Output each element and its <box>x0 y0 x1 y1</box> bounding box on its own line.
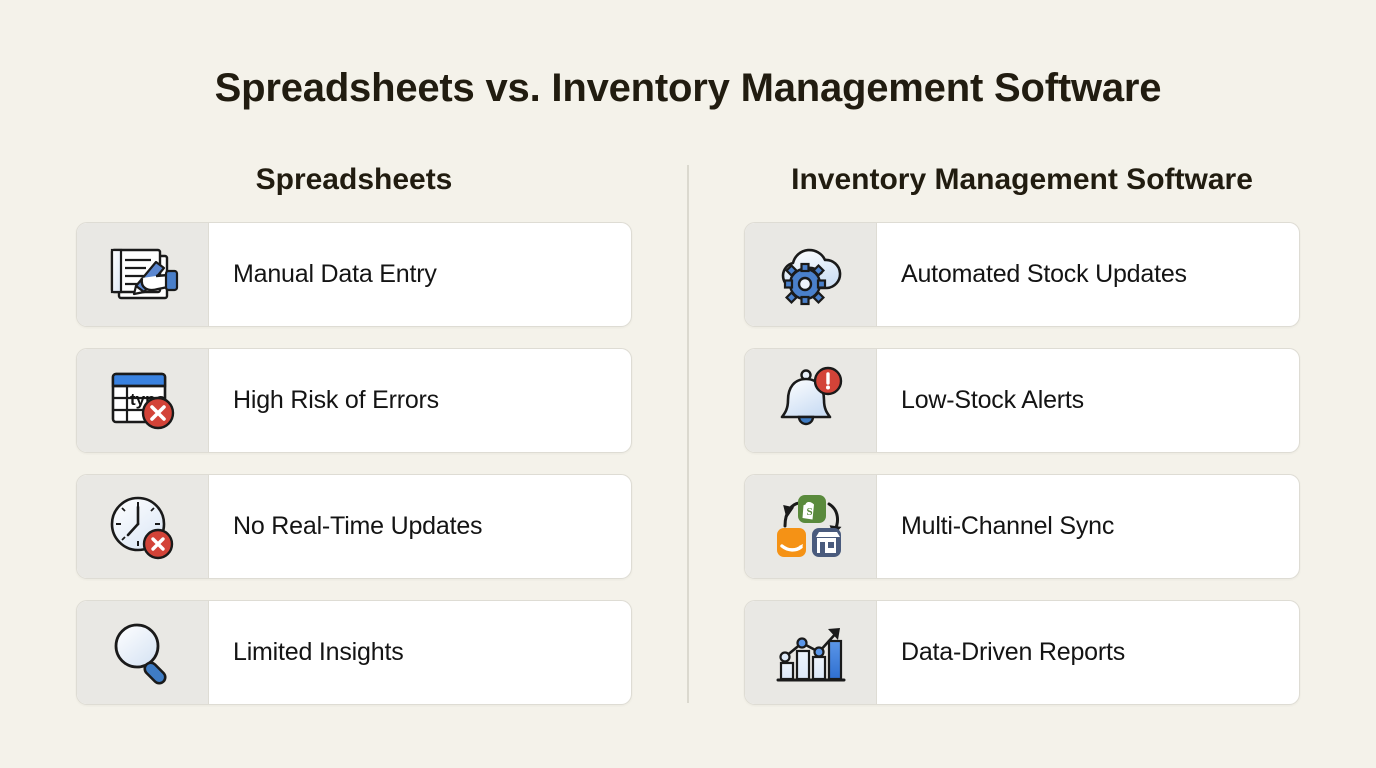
page-title: Spreadsheets vs. Inventory Management So… <box>0 66 1376 111</box>
column-inventory-software: Inventory Management Software <box>744 160 1300 726</box>
list-item-label: Manual Data Entry <box>209 223 631 326</box>
list-item[interactable]: Manual Data Entry <box>76 222 632 327</box>
list-item-label: Low-Stock Alerts <box>877 349 1299 452</box>
handwriting-pen-icon <box>77 223 209 326</box>
list-item[interactable]: typo High Risk of Errors <box>76 348 632 453</box>
magnifying-glass-icon <box>77 601 209 704</box>
list-item[interactable]: Data-Driven Reports <box>744 600 1300 705</box>
bell-alert-icon <box>745 349 877 452</box>
list-item-label: Limited Insights <box>209 601 631 704</box>
multi-channel-sync-icon: S <box>745 475 877 578</box>
list-item[interactable]: Automated Stock Updates <box>744 222 1300 327</box>
bar-chart-trend-icon <box>745 601 877 704</box>
amazon-tile <box>777 528 806 557</box>
column-heading-spreadsheets: Spreadsheets <box>76 160 632 204</box>
list-item-label: High Risk of Errors <box>209 349 631 452</box>
infographic-canvas: Spreadsheets vs. Inventory Management So… <box>0 0 1376 768</box>
list-item-label: Data-Driven Reports <box>877 601 1299 704</box>
spreadsheet-typo-error-icon: typo <box>77 349 209 452</box>
list-item[interactable]: Low-Stock Alerts <box>744 348 1300 453</box>
column-divider <box>687 165 689 703</box>
list-item[interactable]: Limited Insights <box>76 600 632 705</box>
list-item-label: No Real-Time Updates <box>209 475 631 578</box>
column-spreadsheets: Spreadsheets <box>76 160 632 726</box>
svg-text:S: S <box>806 506 812 518</box>
column-heading-inventory-software: Inventory Management Software <box>744 160 1300 204</box>
list-item[interactable]: No Real-Time Updates <box>76 474 632 579</box>
list-item-label: Multi-Channel Sync <box>877 475 1299 578</box>
list-item[interactable]: S Multi-Channel Sync <box>744 474 1300 579</box>
cloud-gear-sync-icon <box>745 223 877 326</box>
clock-error-icon <box>77 475 209 578</box>
list-item-label: Automated Stock Updates <box>877 223 1299 326</box>
